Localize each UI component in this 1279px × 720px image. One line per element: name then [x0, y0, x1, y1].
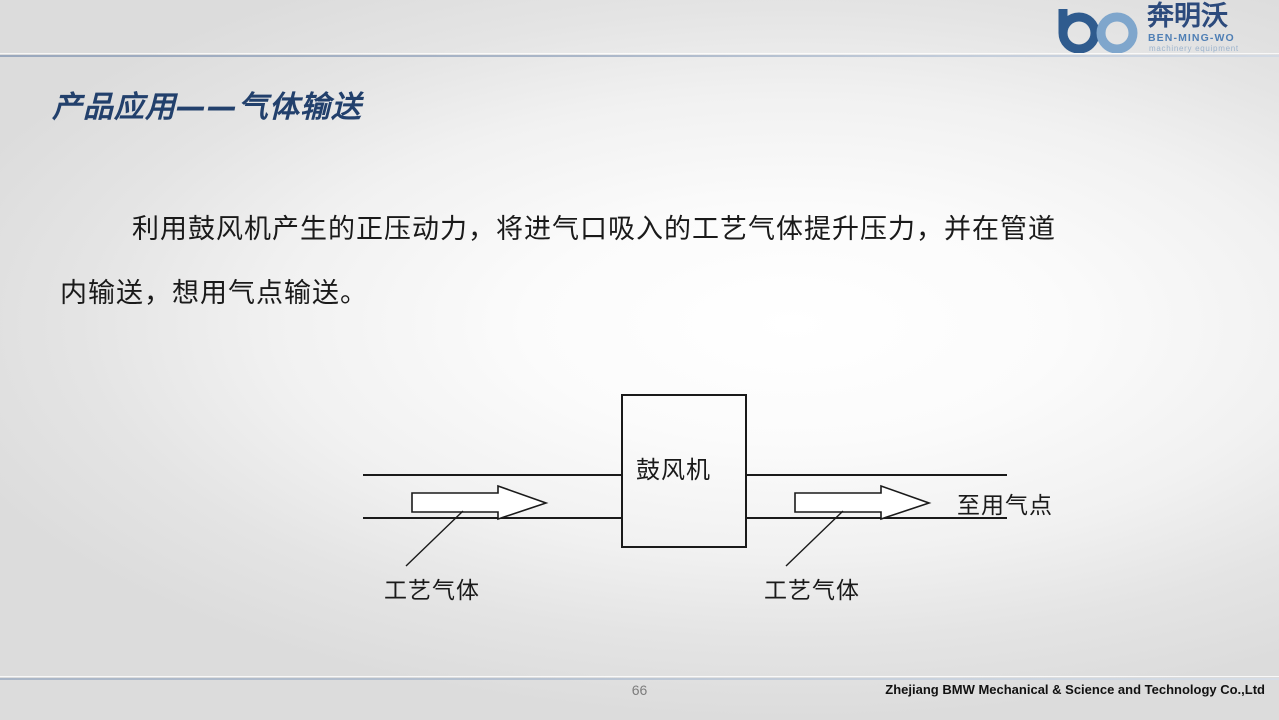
inlet-gas-label: 工艺气体: [384, 571, 480, 605]
leader-line-right: [786, 511, 843, 566]
company-logo: 奔明沃 BEN-MING-WO machinery equipment: [1055, 3, 1271, 53]
body-paragraph: 利用鼓风机产生的正压动力，将进气口吸入的工艺气体提升压力，并在管道内输送，想用气…: [60, 198, 1060, 326]
footer-rule-highlight: [0, 676, 1279, 677]
logo-latin-name: BEN-MING-WO: [1148, 32, 1235, 44]
logo-tagline: machinery equipment: [1149, 44, 1239, 53]
blower-label: 鼓风机: [636, 450, 711, 485]
slide-header: 奔明沃 BEN-MING-WO machinery equipment: [0, 0, 1279, 57]
blower-box: [622, 395, 746, 547]
footer-divider: [0, 678, 1279, 680]
outlet-gas-label: 工艺气体: [764, 571, 860, 605]
flow-arrow-left-icon: [412, 486, 546, 519]
header-divider: [0, 55, 1279, 57]
slide: 奔明沃 BEN-MING-WO machinery equipment 产品应用…: [0, 0, 1279, 720]
footer-company-name: Zhejiang BMW Mechanical & Science and Te…: [885, 682, 1265, 697]
destination-label: 至用气点: [957, 486, 1053, 520]
page-title: 产品应用——气体输送: [52, 82, 362, 126]
logo-chinese-name: 奔明沃: [1147, 2, 1228, 32]
flow-arrow-right-icon: [795, 486, 929, 519]
leader-line-left: [406, 511, 463, 566]
header-rule-highlight: [0, 53, 1279, 54]
